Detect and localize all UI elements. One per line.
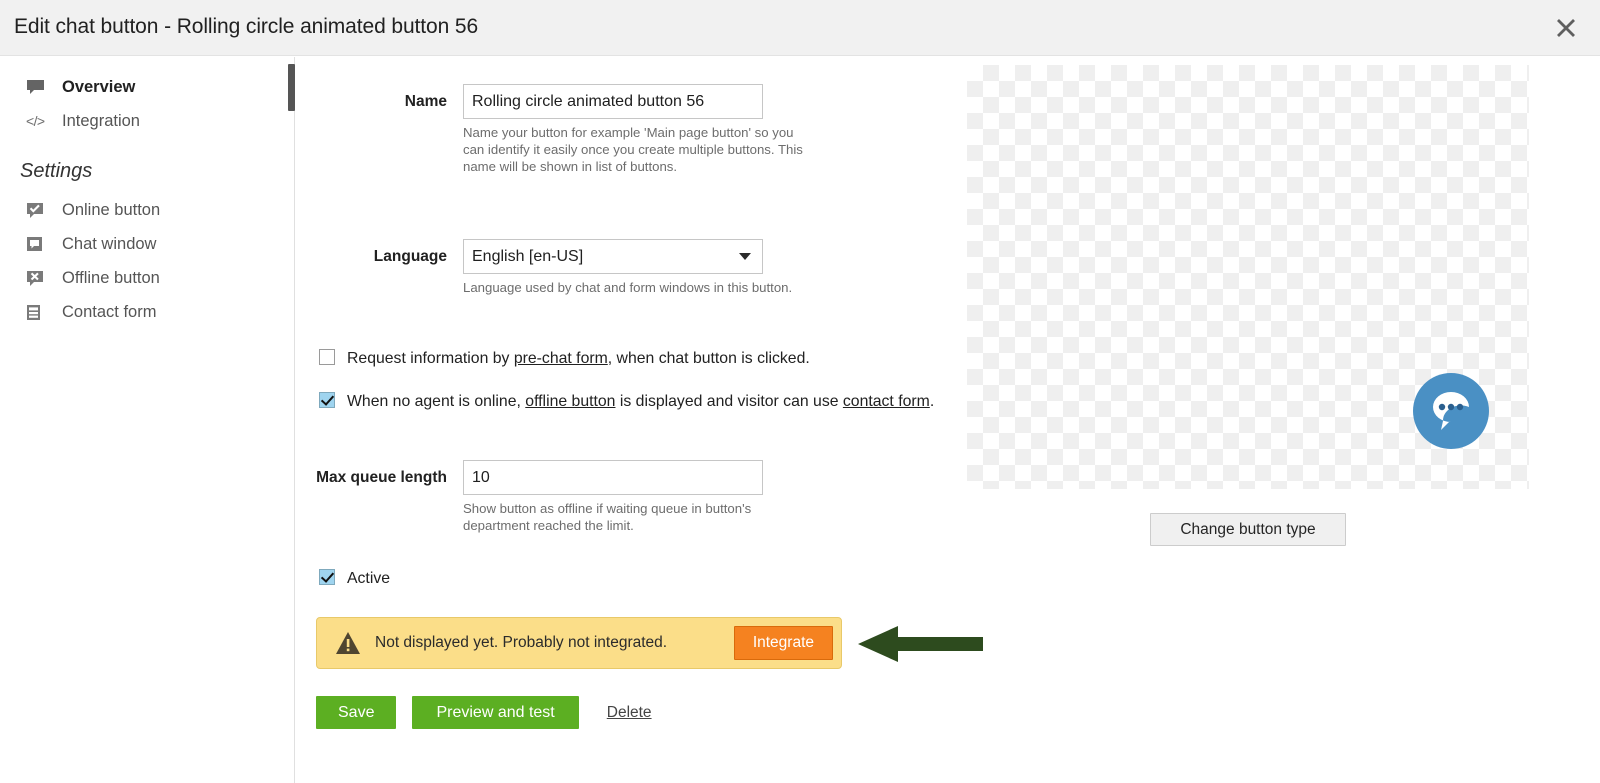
language-select[interactable]: English [en-US] [463, 239, 763, 274]
active-checkbox[interactable] [319, 569, 335, 585]
sidebar-item-contact-form[interactable]: Contact form [0, 295, 294, 329]
chat-bubble-preview-icon[interactable] [1411, 371, 1491, 451]
integrate-button[interactable]: Integrate [734, 626, 833, 660]
language-hint: Language used by chat and form windows i… [463, 279, 803, 296]
left-arrow-annotation-icon [858, 623, 983, 665]
prechat-text-1: Request information by [347, 350, 514, 367]
offline-label: When no agent is online, offline button … [347, 389, 934, 415]
prechat-checkbox-row: Request information by pre-chat form, wh… [319, 346, 810, 372]
sidebar-item-offline-button[interactable]: Offline button [0, 261, 294, 295]
active-checkbox-row: Active [319, 566, 390, 592]
language-field-row: Language English [en-US] Language used b… [295, 239, 763, 296]
code-brackets-icon: </> [26, 111, 48, 131]
offline-checkbox-row: When no agent is online, offline button … [319, 389, 949, 415]
prechat-checkbox[interactable] [319, 349, 335, 365]
sidebar-section-heading: Settings [0, 160, 294, 183]
language-select-value: English [en-US] [463, 239, 763, 274]
sidebar-item-label: Integration [62, 113, 140, 130]
language-label: Language [295, 239, 463, 266]
prechat-label: Request information by pre-chat form, wh… [347, 346, 810, 372]
sidebar-item-label: Online button [62, 202, 160, 219]
content-scrollbar-thumb[interactable] [288, 64, 295, 111]
sidebar-item-label: Chat window [62, 236, 156, 253]
contact-form-link[interactable]: contact form [843, 393, 930, 410]
queue-field-row: Max queue length Show button as offline … [295, 460, 763, 534]
save-button[interactable]: Save [316, 696, 396, 729]
max-queue-length-input[interactable] [463, 460, 763, 495]
prechat-text-2: , when chat button is clicked. [608, 350, 810, 367]
close-icon[interactable] [1548, 10, 1584, 46]
pre-chat-form-link[interactable]: pre-chat form [514, 350, 608, 367]
warning-triangle-icon [335, 631, 361, 655]
offline-checkbox[interactable] [319, 392, 335, 408]
chat-bubble-icon [26, 77, 48, 97]
sidebar-item-label: Offline button [62, 270, 160, 287]
queue-hint: Show button as offline if waiting queue … [463, 500, 803, 534]
chat-window-icon [26, 234, 48, 254]
window-titlebar: Edit chat button - Rolling circle animat… [0, 0, 1600, 56]
sidebar: Overview </> Integration Settings Online… [0, 57, 294, 783]
delete-link[interactable]: Delete [607, 704, 652, 722]
change-button-type-button[interactable]: Change button type [1150, 513, 1346, 546]
name-input[interactable] [463, 84, 763, 119]
settings-form: Name Name your button for example 'Main … [295, 57, 965, 783]
offline-text-3: . [930, 393, 934, 410]
name-field-row: Name Name your button for example 'Main … [295, 84, 763, 175]
offline-text-2: is displayed and visitor can use [615, 393, 842, 410]
sidebar-item-overview[interactable]: Overview [0, 70, 294, 104]
sidebar-item-label: Overview [62, 79, 135, 96]
preview-and-test-button[interactable]: Preview and test [412, 696, 578, 729]
bubble-check-icon [26, 200, 48, 220]
sidebar-item-chat-window[interactable]: Chat window [0, 227, 294, 261]
form-actions: Save Preview and test Delete [316, 696, 652, 729]
window-title: Edit chat button - Rolling circle animat… [14, 15, 478, 39]
sidebar-item-integration[interactable]: </> Integration [0, 104, 294, 138]
name-label: Name [295, 84, 463, 111]
active-label: Active [347, 566, 390, 592]
sidebar-item-online-button[interactable]: Online button [0, 193, 294, 227]
offline-text-1: When no agent is online, [347, 393, 525, 410]
sidebar-item-label: Contact form [62, 304, 156, 321]
close-x-glyph [1555, 17, 1577, 39]
warning-message: Not displayed yet. Probably not integrat… [375, 634, 734, 652]
integration-warning-bar: Not displayed yet. Probably not integrat… [316, 617, 842, 669]
queue-label: Max queue length [295, 460, 463, 487]
bubble-x-icon [26, 268, 48, 288]
contact-form-icon [26, 302, 48, 322]
offline-button-link[interactable]: offline button [525, 393, 615, 410]
name-hint: Name your button for example 'Main page … [463, 124, 803, 175]
